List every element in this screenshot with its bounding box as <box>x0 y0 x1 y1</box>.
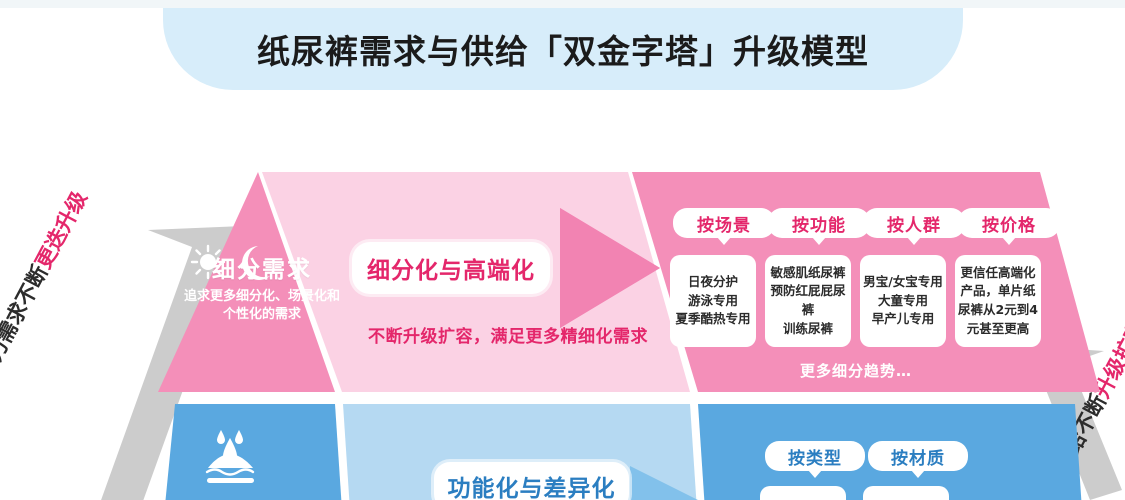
demand-card-2-text: 男宝/女宝专用大童专用早产儿专用 <box>863 273 943 329</box>
top-band <box>0 0 1125 8</box>
tag-nub-icon <box>907 237 921 245</box>
demand-badge[interactable]: 细分化与高端化 <box>352 242 550 294</box>
demand-card-3-text: 更信任高端化产品，单片纸尿裤从2元到4元甚至更高 <box>955 264 1041 339</box>
demand-tag-3-label: 按价格 <box>982 211 1036 236</box>
supply-tag-1[interactable]: 按材质 <box>868 441 968 471</box>
demand-card-0-text: 日夜分护游泳专用夏季酷热专用 <box>675 273 750 329</box>
demand-tag-1-label: 按功能 <box>792 211 846 236</box>
supply-layer: 功能化与差异化 按类型 按材质 <box>0 396 1125 500</box>
demand-tag-0-label: 按场景 <box>697 211 751 236</box>
demand-tag-0[interactable]: 按场景 <box>673 208 775 238</box>
demand-tag-1[interactable]: 按功能 <box>768 208 870 238</box>
demand-caption: 不断升级扩容，满足更多精细化需求 <box>358 322 658 347</box>
demand-cone-subtitle: 追求更多细分化、场景化和个性化的需求 <box>182 288 342 323</box>
demand-layer: 细分需求 追求更多细分化、场景化和个性化的需求 细分化与高端化 不断升级扩容，满… <box>0 160 1125 400</box>
tag-nub-icon <box>911 470 925 478</box>
supply-layer-content: 功能化与差异化 按类型 按材质 <box>0 396 1125 500</box>
demand-badge-label: 细分化与高端化 <box>367 251 535 285</box>
demand-card-1-text: 敏感肌纸尿裤预防红屁屁尿裤训练尿裤 <box>765 264 851 339</box>
infographic-canvas: 纸尿裤需求与供给「双金字塔」升级模型 消费能力需求不断更迭升级 供给不断升级扩容 <box>0 0 1125 500</box>
tag-nub-icon <box>1002 237 1016 245</box>
page-title: 纸尿裤需求与供给「双金字塔」升级模型 <box>257 25 869 73</box>
tag-nub-icon <box>812 237 826 245</box>
demand-more-label: 更多细分趋势… <box>800 360 912 381</box>
demand-layer-content: 细分需求 追求更多细分化、场景化和个性化的需求 细分化与高端化 不断升级扩容，满… <box>0 160 1125 400</box>
supply-card-0 <box>760 486 846 500</box>
supply-tag-1-label: 按材质 <box>891 444 945 469</box>
supply-tag-0[interactable]: 按类型 <box>765 441 865 471</box>
demand-card-1: 敏感肌纸尿裤预防红屁屁尿裤训练尿裤 <box>765 255 851 347</box>
sun-icon <box>192 246 224 278</box>
supply-card-1 <box>863 486 949 500</box>
demand-tag-2-label: 按人群 <box>887 211 941 236</box>
supply-badge[interactable]: 功能化与差异化 <box>434 462 629 500</box>
tag-nub-icon <box>808 470 822 478</box>
supply-cone-block <box>200 426 350 434</box>
demand-card-3: 更信任高端化产品，单片纸尿裤从2元到4元甚至更高 <box>955 255 1041 347</box>
demand-tag-2[interactable]: 按人群 <box>863 208 965 238</box>
demand-cone-block: 细分需求 追求更多细分化、场景化和个性化的需求 <box>182 242 342 323</box>
supply-badge-label: 功能化与差异化 <box>448 469 616 500</box>
tag-nub-icon <box>717 237 731 245</box>
supply-tag-0-label: 按类型 <box>788 444 842 469</box>
page-title-pill: 纸尿裤需求与供给「双金字塔」升级模型 <box>163 8 963 90</box>
moon-icon <box>242 246 270 280</box>
demand-tag-3[interactable]: 按价格 <box>958 208 1060 238</box>
demand-card-2: 男宝/女宝专用大童专用早产儿专用 <box>860 255 946 347</box>
demand-card-0: 日夜分护游泳专用夏季酷热专用 <box>670 255 756 347</box>
